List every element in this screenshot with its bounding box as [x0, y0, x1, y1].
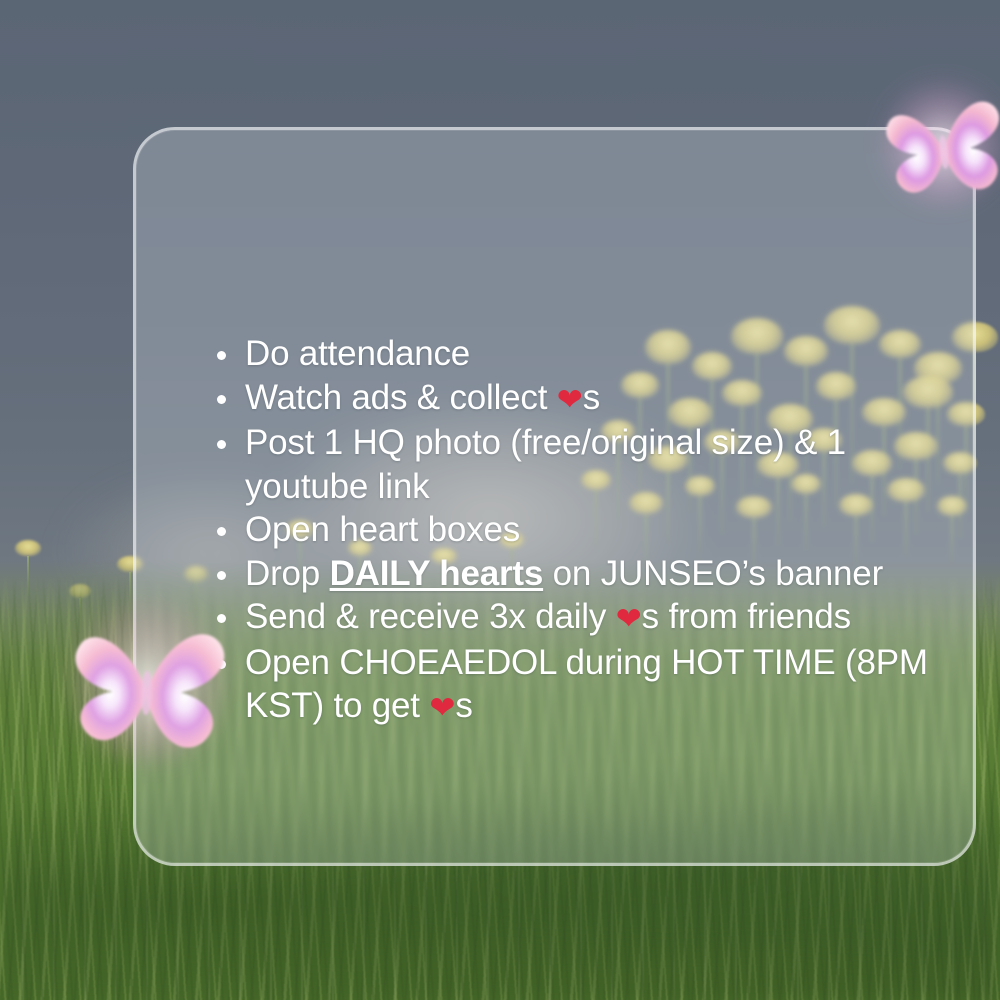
- reminder-text: Open CHOEAEDOL during HOT TIME (8PM KST)…: [245, 643, 928, 726]
- reminder-emphasis: DAILY hearts: [330, 554, 544, 593]
- reminder-item: Post 1 HQ photo (free/original size) & 1…: [206, 421, 936, 508]
- reminder-item: Open CHOEAEDOL during HOT TIME (8PM KST)…: [206, 641, 936, 730]
- reminder-text: Drop: [245, 554, 330, 593]
- reminder-item: Open heart boxes: [206, 508, 936, 552]
- reminder-item: Drop DAILY hearts on JUNSEO’s banner: [206, 552, 936, 596]
- reminder-item: Watch ads & collect ❤s: [206, 376, 936, 422]
- reminder-item: Send & receive 3x daily ❤s from friends: [206, 595, 936, 641]
- reminder-text: Open heart boxes: [245, 510, 520, 549]
- reminder-text: s: [583, 378, 600, 417]
- reminder-text: Send & receive 3x daily: [245, 597, 616, 636]
- poster-canvas: DAILY REMINDERS Do attendanceWatch ads &…: [0, 0, 1000, 1000]
- reminder-text: Do attendance: [245, 334, 470, 373]
- reminder-item: Do attendance: [206, 332, 936, 376]
- heart-icon: ❤: [429, 690, 455, 725]
- reminder-text: s from friends: [642, 597, 851, 636]
- reminder-text: Watch ads & collect: [245, 378, 557, 417]
- heart-icon: ❤: [616, 601, 642, 636]
- reminder-text: s: [455, 686, 472, 725]
- heart-icon: ❤: [557, 382, 583, 417]
- reminders-list: Do attendanceWatch ads & collect ❤sPost …: [206, 332, 936, 730]
- reminder-text: Post 1 HQ photo (free/original size) & 1…: [245, 423, 846, 506]
- reminder-text: on JUNSEO’s banner: [543, 554, 883, 593]
